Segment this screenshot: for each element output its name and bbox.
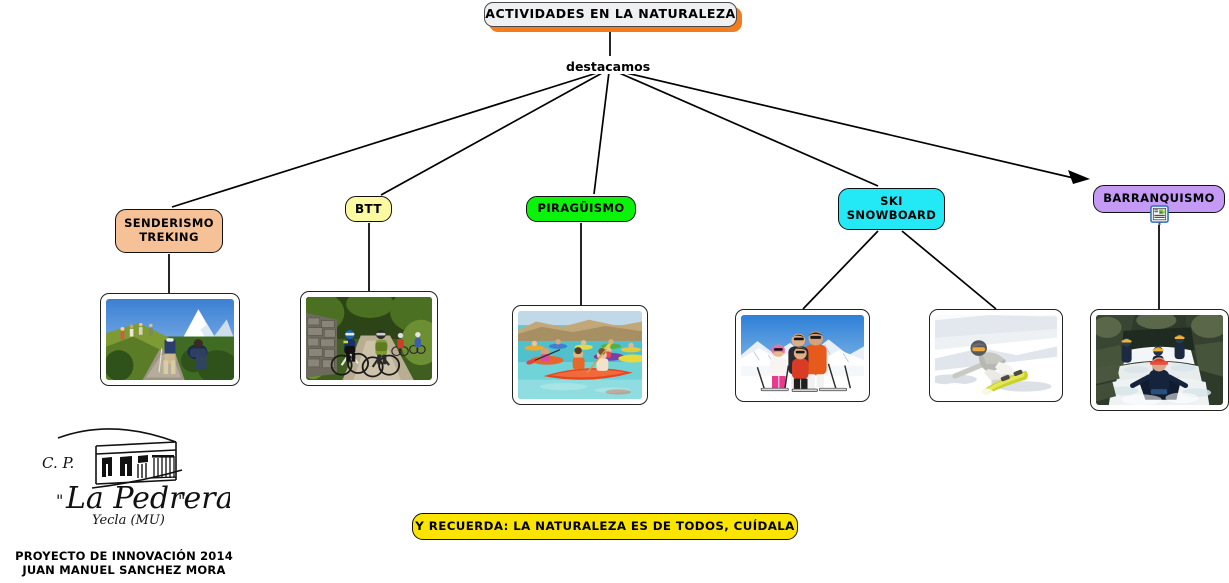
logo-quote-open: " (56, 491, 63, 510)
credit-line-2: JUAN MANUEL SANCHEZ MORA (0, 563, 248, 577)
credit-block: PROYECTO DE INNOVACIÓN 2014 JUAN MANUEL … (0, 549, 248, 577)
edge-to-btt (381, 72, 604, 195)
photo-snowboard[interactable] (929, 309, 1063, 402)
node-btt[interactable]: BTT (345, 196, 392, 222)
note-document-icon[interactable] (1150, 205, 1169, 225)
photo-piraguismo-image (518, 311, 642, 399)
photo-barranquismo-image (1096, 315, 1223, 405)
photo-ski-image (741, 315, 864, 396)
photo-barranquismo[interactable] (1090, 309, 1229, 411)
connector-label-destacamos: destacamos (563, 59, 653, 74)
node-piraguismo-label: PIRAGÜISMO (537, 202, 624, 216)
edge-to-barranquismo (622, 72, 1082, 180)
node-recuerda-label: Y RECUERDA: LA NATURALEZA ES DE TODOS, C… (415, 520, 794, 534)
edge-to-senderismo (172, 72, 600, 207)
node-piraguismo[interactable]: PIRAGÜISMO (526, 196, 636, 222)
photo-piraguismo[interactable] (512, 305, 648, 405)
edge-to-piraguismo (594, 72, 609, 194)
edge-snowboard-photo (902, 231, 996, 309)
photo-ski[interactable] (735, 309, 870, 402)
node-recuerda[interactable]: Y RECUERDA: LA NATURALEZA ES DE TODOS, C… (412, 513, 798, 540)
node-ski-label: SKI SNOWBOARD (847, 195, 937, 222)
photo-senderismo[interactable] (100, 293, 240, 386)
arrowhead-barranquismo (1068, 170, 1090, 184)
photo-btt-image (306, 297, 432, 380)
node-btt-label: BTT (355, 202, 382, 216)
node-senderismo-label: SENDERISMO TREKING (124, 217, 214, 244)
node-ski-snowboard[interactable]: SKI SNOWBOARD (838, 188, 945, 230)
logo-place: Yecla (MU) (92, 513, 165, 528)
photo-snowboard-image (935, 315, 1057, 396)
logo-quote-close: " (178, 491, 185, 510)
logo-name: La Pedrera (65, 481, 230, 516)
photo-btt[interactable] (300, 291, 438, 386)
logo-prefix: C. P. (42, 454, 74, 472)
node-barranquismo-label: BARRANQUISMO (1103, 192, 1215, 206)
school-logo: C. P. " La Pedrera " Yecla (MU) (30, 410, 230, 530)
root-node-label: ACTIVIDADES EN LA NATURALEZA (485, 7, 735, 22)
credit-line-1: PROYECTO DE INNOVACIÓN 2014 (0, 549, 248, 563)
edge-to-ski (617, 72, 878, 186)
edge-ski-photo (803, 231, 878, 309)
mindmap-canvas: ACTIVIDADES EN LA NATURALEZA destacamos … (0, 0, 1229, 583)
photo-senderismo-image (106, 299, 234, 380)
root-node[interactable]: ACTIVIDADES EN LA NATURALEZA (484, 2, 737, 27)
node-senderismo-treking[interactable]: SENDERISMO TREKING (115, 209, 223, 253)
